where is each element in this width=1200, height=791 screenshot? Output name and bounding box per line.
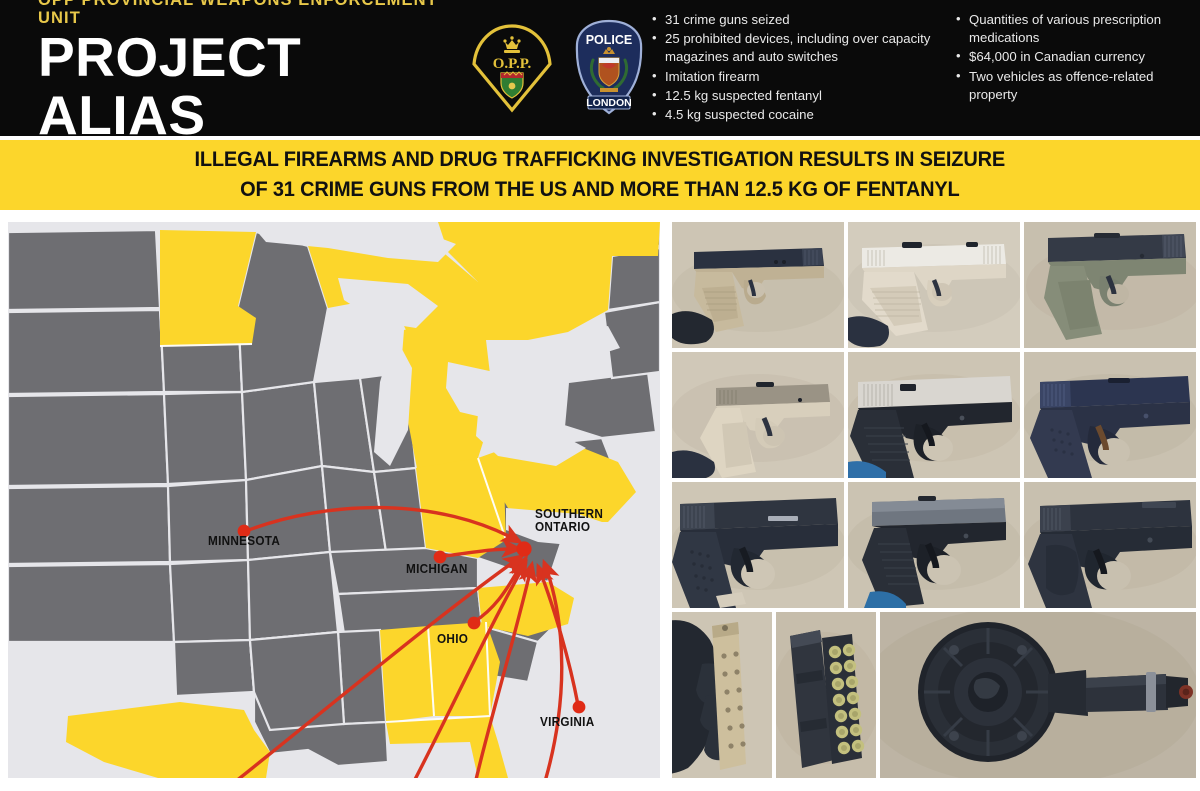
list-item: Quantities of various prescription medic…: [956, 11, 1186, 47]
dot-ohio: [468, 617, 481, 630]
seizure-list-column-1: 31 crime guns seized 25 prohibited devic…: [652, 11, 942, 125]
map-svg: [8, 222, 660, 778]
page-title: PROJECT ALIAS: [38, 29, 467, 145]
infographic-page: OPP PROVINCIAL WEAPONS ENFORCEMENT UNIT …: [0, 0, 1200, 791]
photo-pistol-black-subcompact[interactable]: [1024, 482, 1196, 608]
dot-southern-ontario: [516, 541, 531, 556]
agency-badges: O.P.P. POLICE: [467, 18, 653, 118]
seized-items-photo-grid: [672, 222, 1196, 778]
london-police-crest-icon: POLICE LONDON: [570, 18, 648, 118]
headline-line-1: ILLEGAL FIREARMS AND DRUG TRAFFICKING IN…: [195, 145, 1005, 175]
list-item: Two vehicles as offence-related property: [956, 68, 1186, 104]
source-states-map: SOUTHERN ONTARIO MINNESOTA MICHIGAN OHIO…: [8, 222, 660, 778]
list-item: 25 prohibited devices, including over ca…: [652, 30, 942, 66]
headline-banner: ILLEGAL FIREARMS AND DRUG TRAFFICKING IN…: [0, 140, 1200, 210]
photo-pistol-tan-slide-black[interactable]: [672, 222, 844, 348]
photo-drum-magazine-with-suppressor[interactable]: [880, 612, 1196, 778]
svg-text:POLICE: POLICE: [586, 33, 633, 47]
svg-text:LONDON: LONDON: [587, 97, 633, 109]
list-item: $64,000 in Canadian currency: [956, 48, 1186, 66]
state-alabama: [380, 626, 434, 722]
list-item: 4.5 kg suspected cocaine: [652, 106, 942, 124]
photo-pistol-grey-slide-black-frame[interactable]: [848, 482, 1020, 608]
map-label-southern-ontario: SOUTHERN ONTARIO: [535, 508, 603, 534]
svg-text:O.P.P.: O.P.P.: [493, 56, 532, 72]
list-item: 31 crime guns seized: [652, 11, 942, 29]
seizure-summary: 31 crime guns seized 25 prohibited devic…: [652, 11, 1200, 125]
photo-pistol-black-stainless-slide[interactable]: [848, 352, 1020, 478]
opp-crest-icon: O.P.P.: [470, 22, 554, 114]
seizure-list-column-2: Quantities of various prescription medic…: [956, 11, 1186, 125]
photo-pistol-tan-compact[interactable]: [672, 352, 844, 478]
map-label-ohio: OHIO: [437, 632, 468, 646]
map-label-virginia: VIRGINIA: [540, 715, 594, 729]
headline-line-2: OF 31 CRIME GUNS FROM THE US AND MORE TH…: [240, 175, 959, 205]
state-minnesota: [160, 230, 256, 346]
photo-pistol-black-full-size[interactable]: [672, 482, 844, 608]
photo-pistol-olive-frame[interactable]: [1024, 222, 1196, 348]
map-label-michigan: MICHIGAN: [406, 562, 468, 576]
unit-eyebrow: OPP PROVINCIAL WEAPONS ENFORCEMENT UNIT: [38, 0, 467, 27]
list-item: Imitation firearm: [652, 68, 942, 86]
photo-magazine-tan-in-glove[interactable]: [672, 612, 772, 778]
header-bar: OPP PROVINCIAL WEAPONS ENFORCEMENT UNIT …: [0, 0, 1200, 136]
photo-pistol-white-two-tone[interactable]: [848, 222, 1020, 348]
title-block: OPP PROVINCIAL WEAPONS ENFORCEMENT UNIT …: [0, 0, 467, 145]
photo-pistol-blue-slide[interactable]: [1024, 352, 1196, 478]
photo-magazine-black-with-ammunition[interactable]: [776, 612, 876, 778]
dot-virginia: [573, 701, 586, 714]
map-label-minnesota: MINNESOTA: [208, 534, 280, 548]
list-item: 12.5 kg suspected fentanyl: [652, 87, 942, 105]
